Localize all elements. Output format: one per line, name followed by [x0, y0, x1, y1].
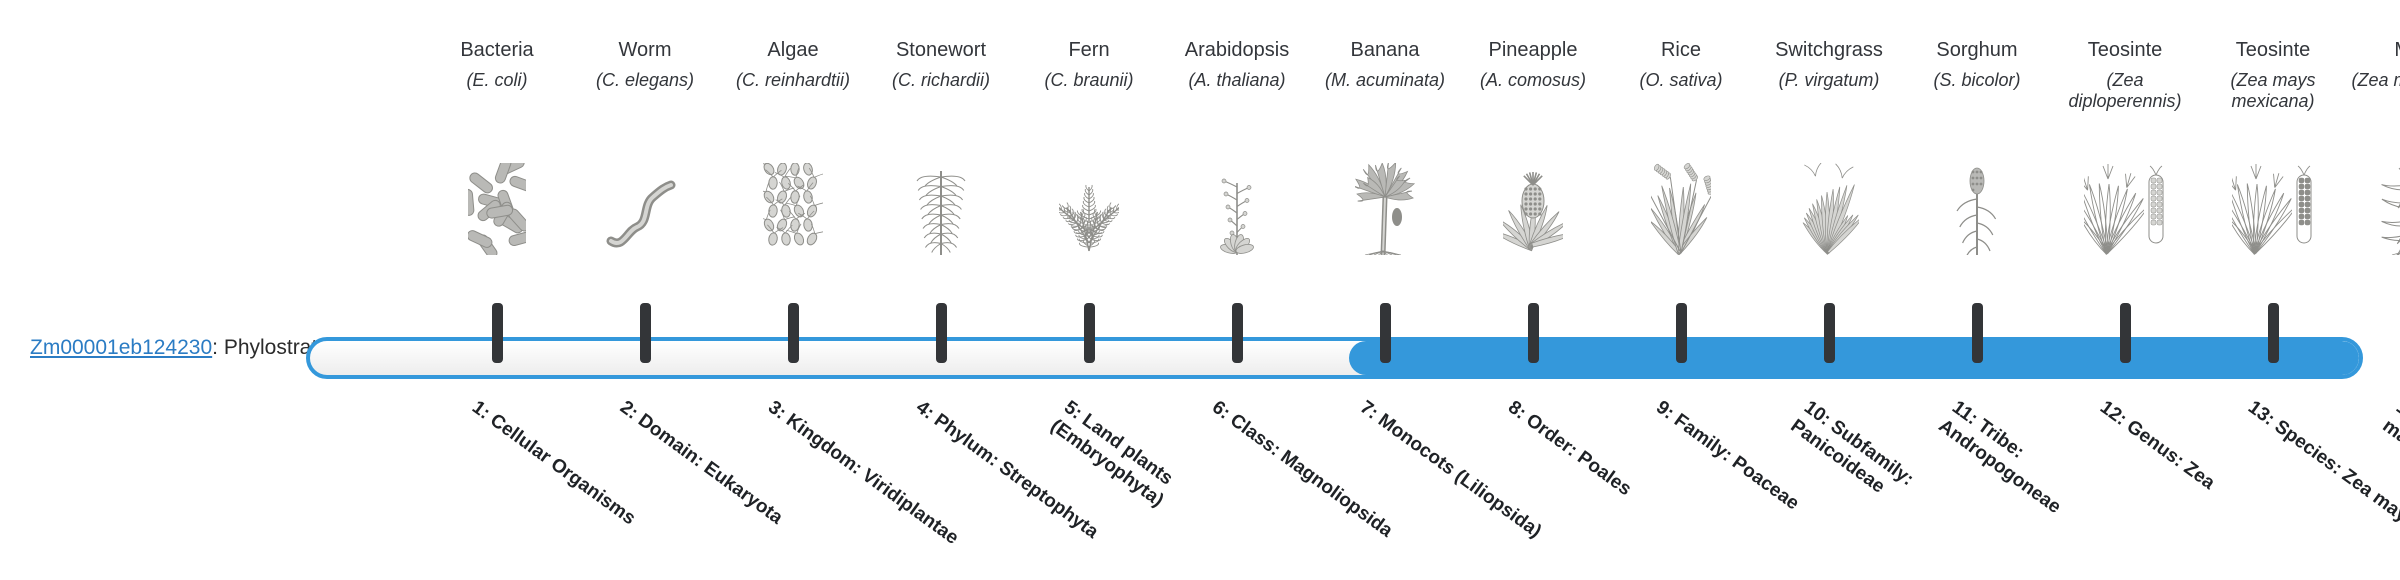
species-scientific-name: (Zea mays mexicana) — [2203, 70, 2343, 112]
phylostratum-tick-9[interactable] — [1676, 303, 1687, 363]
species-scientific-name: (Zea diploperennis) — [2055, 70, 2195, 112]
species-scientific-name: (C. braunii) — [1019, 70, 1159, 91]
species-scientific-name: (O. sativa) — [1611, 70, 1751, 91]
phylostratum-tick-6[interactable] — [1232, 303, 1243, 363]
maize-plant-and-cob-illustration — [2347, 160, 2400, 255]
species-common-name: Teosinte — [2199, 38, 2347, 62]
teosinte-mexicana-plant-and-ear-illustration — [2199, 160, 2347, 255]
phylostratum-tick-12[interactable] — [2120, 303, 2131, 363]
phylostratum-tick-13[interactable] — [2268, 303, 2279, 363]
species-common-name: Fern — [1015, 38, 1163, 62]
phylostratum-tick-8[interactable] — [1528, 303, 1539, 363]
arabidopsis-rosette-illustration — [1163, 160, 1311, 255]
bacteria-rods-illustration — [423, 160, 571, 255]
species-common-name: Arabidopsis — [1163, 38, 1311, 62]
species-common-name: Teosinte — [2051, 38, 2199, 62]
phylostratum-tick-2[interactable] — [640, 303, 651, 363]
pineapple-plant-illustration — [1459, 160, 1607, 255]
species-common-name: Worm — [571, 38, 719, 62]
species-common-name: Stonewort — [867, 38, 1015, 62]
species-scientific-name: (A. comosus) — [1463, 70, 1603, 91]
species-scientific-name: (A. thaliana) — [1167, 70, 1307, 91]
species-common-name: Switchgrass — [1755, 38, 1903, 62]
species-scientific-name: (C. richardii) — [871, 70, 1011, 91]
species-scientific-name: (S. bicolor) — [1907, 70, 2047, 91]
species-common-name: Sorghum — [1903, 38, 2051, 62]
gene-label-separator: : — [212, 336, 224, 359]
species-scientific-name: (C. elegans) — [575, 70, 715, 91]
species-scientific-name: (C. reinhardtii) — [723, 70, 863, 91]
gene-phylostratum-label: Zm00001eb124230: Phylostratum 7 — [30, 336, 290, 360]
phylostratum-tick-3[interactable] — [788, 303, 799, 363]
phylostratum-tick-11[interactable] — [1972, 303, 1983, 363]
chlamydomonas-algae-illustration — [719, 160, 867, 255]
phylostratum-tick-5[interactable] — [1084, 303, 1095, 363]
species-common-name: Rice — [1607, 38, 1755, 62]
nematode-worm-illustration — [571, 160, 719, 255]
phylostratigraphy-figure: Zm00001eb124230: Phylostratum 7 Bacteria… — [0, 0, 2400, 580]
teosinte-plant-and-ear-illustration — [2051, 160, 2199, 255]
phylostratum-tick-10[interactable] — [1824, 303, 1835, 363]
rice-plant-illustration — [1607, 160, 1755, 255]
species-scientific-name: (E. coli) — [427, 70, 567, 91]
species-common-name: Maize — [2347, 38, 2400, 62]
species-common-name: Pineapple — [1459, 38, 1607, 62]
species-scientific-name: (M. acuminata) — [1315, 70, 1455, 91]
species-scientific-name: (Zea mays mays) — [2351, 70, 2400, 91]
species-scientific-name: (P. virgatum) — [1759, 70, 1899, 91]
sorghum-plant-illustration — [1903, 160, 2051, 255]
species-common-name: Algae — [719, 38, 867, 62]
gene-id-link[interactable]: Zm00001eb124230 — [30, 336, 212, 359]
species-common-name: Banana — [1311, 38, 1459, 62]
phylostratum-tick-7[interactable] — [1380, 303, 1391, 363]
banana-plant-illustration — [1311, 160, 1459, 255]
phylostratum-tick-4[interactable] — [936, 303, 947, 363]
species-common-name: Bacteria — [423, 38, 571, 62]
fern-frond-illustration — [1015, 160, 1163, 255]
phylostratum-tick-1[interactable] — [492, 303, 503, 363]
stonewort-alga-illustration — [867, 160, 1015, 255]
switchgrass-plant-illustration — [1755, 160, 1903, 255]
